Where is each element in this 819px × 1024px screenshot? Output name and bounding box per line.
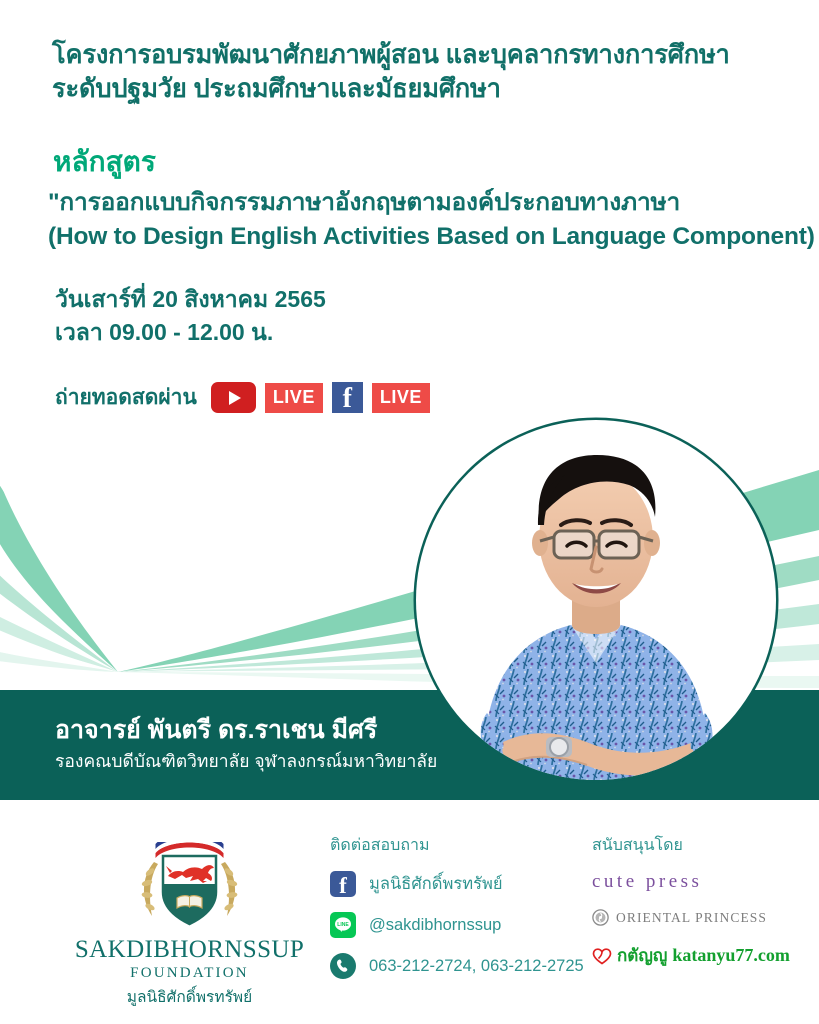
play-triangle-icon xyxy=(229,391,241,405)
contact-phone-text: 063-212-2724, 063-212-2725 xyxy=(369,957,584,976)
event-date: วันเสาร์ที่ 20 สิงหาคม 2565 xyxy=(55,283,326,316)
foundation-logo-name: SAKDIBHORNSSUP xyxy=(62,936,317,964)
course-title: "การออกแบบกิจกรรมภาษาอังกฤษตามองค์ประกอบ… xyxy=(48,186,818,254)
wrist-watch-icon xyxy=(546,737,572,757)
header-line-1: โครงการอบรมพัฒนาศักยภาพผู้สอน และบุคลากร… xyxy=(52,38,792,72)
speaker-role: รองคณบดีบัณฑิตวิทยาลัย จุฬาลงกรณ์มหาวิทย… xyxy=(55,747,437,775)
live-broadcast-label: ถ่ายทอดสดผ่าน xyxy=(55,381,197,414)
foundation-logo-thai: มูลนิธิศักดิ์พรทรัพย์ xyxy=(62,984,317,1009)
facebook-f-icon[interactable]: f xyxy=(332,382,363,413)
course-title-english: (How to Design English Activities Based … xyxy=(48,220,818,254)
contact-item-line[interactable]: LINE @sakdibhornssup xyxy=(330,912,570,938)
event-datetime: วันเสาร์ที่ 20 สิงหาคม 2565 เวลา 09.00 -… xyxy=(55,283,326,349)
oriental-princess-emblem-icon xyxy=(592,909,609,926)
course-label: หลักสูตร xyxy=(53,145,156,179)
contact-facebook-text: มูลนิธิศักดิ์พรทรัพย์ xyxy=(369,871,503,897)
sponsor-oriental-princess: ORIENTAL PRINCESS xyxy=(592,909,819,926)
line-icon: LINE xyxy=(330,912,356,938)
contact-item-facebook[interactable]: f มูลนิธิศักดิ์พรทรัพย์ xyxy=(330,871,570,897)
youtube-live-badge[interactable]: LIVE xyxy=(265,383,323,413)
event-time: เวลา 09.00 - 12.00 น. xyxy=(55,316,326,349)
foundation-logo-sub: FOUNDATION xyxy=(62,965,317,982)
phone-icon xyxy=(330,953,356,979)
course-title-thai: "การออกแบบกิจกรรมภาษาอังกฤษตามองค์ประกอบ… xyxy=(48,189,680,216)
svg-text:LINE: LINE xyxy=(337,922,349,928)
sponsor-cute-press: cute press xyxy=(592,871,819,893)
foundation-logo-block: SAKDIBHORNSSUP FOUNDATION มูลนิธิศักดิ์พ… xyxy=(62,842,317,1009)
speaker-name: อาจารย์ พันตรี ดร.ราเชน มีศรี xyxy=(55,710,377,750)
contact-column: ติดต่อสอบถาม f มูลนิธิศักดิ์พรทรัพย์ LIN… xyxy=(330,833,570,994)
footer: SAKDIBHORNSSUP FOUNDATION มูลนิธิศักดิ์พ… xyxy=(0,800,819,1024)
youtube-play-icon[interactable] xyxy=(211,382,256,413)
facebook-live-badge[interactable]: LIVE xyxy=(372,383,430,413)
sponsor-katanyu[interactable]: กตัญญู katanyu77.com xyxy=(592,942,819,969)
left-swoosh-group xyxy=(0,440,118,672)
poster-root: โครงการอบรมพัฒนาศักยภาพผู้สอน และบุคลากร… xyxy=(0,0,819,1024)
contact-heading: ติดต่อสอบถาม xyxy=(330,833,570,858)
katanyu-heart-icon xyxy=(592,947,612,965)
facebook-icon: f xyxy=(330,871,356,897)
live-broadcast-row: ถ่ายทอดสดผ่าน LIVE f LIVE xyxy=(55,381,430,414)
sponsors-column: สนับสนุนโดย cute press ORIENTAL PRINCESS… xyxy=(592,833,819,969)
contact-item-phone[interactable]: 063-212-2724, 063-212-2725 xyxy=(330,953,570,979)
page-title: โครงการอบรมพัฒนาศักยภาพผู้สอน และบุคลากร… xyxy=(52,38,792,106)
sponsor-oriental-princess-text: ORIENTAL PRINCESS xyxy=(616,910,767,926)
open-book-icon xyxy=(177,896,202,908)
header-line-2: ระดับปฐมวัย ประถมศึกษาและมัธยมศึกษา xyxy=(52,72,792,106)
sponsors-heading: สนับสนุนโดย xyxy=(592,833,819,858)
sponsor-katanyu-thai: กตัญญู xyxy=(617,942,667,969)
contact-line-text: @sakdibhornssup xyxy=(369,916,501,935)
sponsor-katanyu-url: katanyu77.com xyxy=(672,945,790,966)
avatar xyxy=(409,413,783,787)
speaker-portrait-illustration xyxy=(409,413,783,787)
facebook-letter-f: f xyxy=(343,384,352,413)
sakdibhornssup-crest-icon xyxy=(62,842,317,928)
